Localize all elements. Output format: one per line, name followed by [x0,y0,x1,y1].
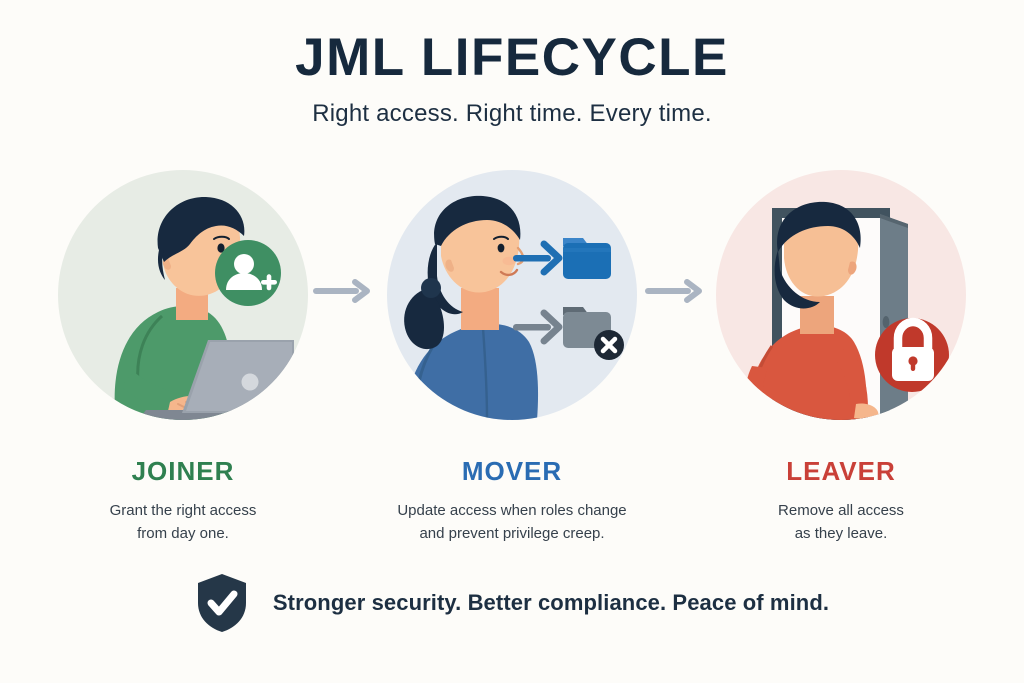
lock-badge [875,318,949,392]
stage-desc-joiner-line2: from day one. [28,522,338,545]
mover-circle-background [387,170,637,420]
stage-desc-joiner: Grant the right access from day one. [28,499,338,546]
leaver-circle-background [716,170,966,420]
stage-label-leaver: LEAVER [686,456,996,487]
mover-illustration-wrap [387,170,637,420]
folder-revoked-icon [563,307,624,360]
stage-desc-joiner-line1: Grant the right access [28,499,338,522]
stage-row: JOINER Grant the right access from day o… [0,170,1024,550]
person-leaving-through-door-illustration [716,170,966,420]
page-subtitle: Right access. Right time. Every time. [0,100,1024,128]
folder-granted-icon [563,238,611,279]
footer-banner: Stronger security. Better compliance. Pe… [0,572,1024,634]
stage-desc-mover-line1: Update access when roles change [357,499,667,522]
shield-check-icon [195,572,249,634]
stage-desc-mover-line2: and prevent privilege creep. [357,522,667,545]
joiner-illustration-wrap [58,170,308,420]
stage-desc-mover: Update access when roles change and prev… [357,499,667,546]
stage-desc-leaver-line1: Remove all access [686,499,996,522]
arrow-joiner-to-mover [313,278,375,304]
grant-arrow-icon [513,244,559,272]
infographic-canvas: JML LIFECYCLE Right access. Right time. … [0,0,1024,683]
person-profile-with-folders-illustration [387,170,637,420]
person-at-laptop-illustration [58,170,308,420]
stage-leaver: LEAVER Remove all access as they leave. [686,170,996,546]
user-plus-badge [215,240,281,306]
footer-text: Stronger security. Better compliance. Pe… [273,590,829,616]
stage-desc-leaver: Remove all access as they leave. [686,499,996,546]
stage-label-joiner: JOINER [28,456,338,487]
leaver-illustration-wrap [716,170,966,420]
header: JML LIFECYCLE Right access. Right time. … [0,30,1024,128]
arrow-mover-to-leaver [645,278,707,304]
stage-desc-leaver-line2: as they leave. [686,522,996,545]
stage-joiner: JOINER Grant the right access from day o… [28,170,338,546]
page-title: JML LIFECYCLE [0,30,1024,86]
stage-mover: MOVER Update access when roles change an… [357,170,667,546]
stage-label-mover: MOVER [357,456,667,487]
joiner-circle-background [58,170,308,420]
